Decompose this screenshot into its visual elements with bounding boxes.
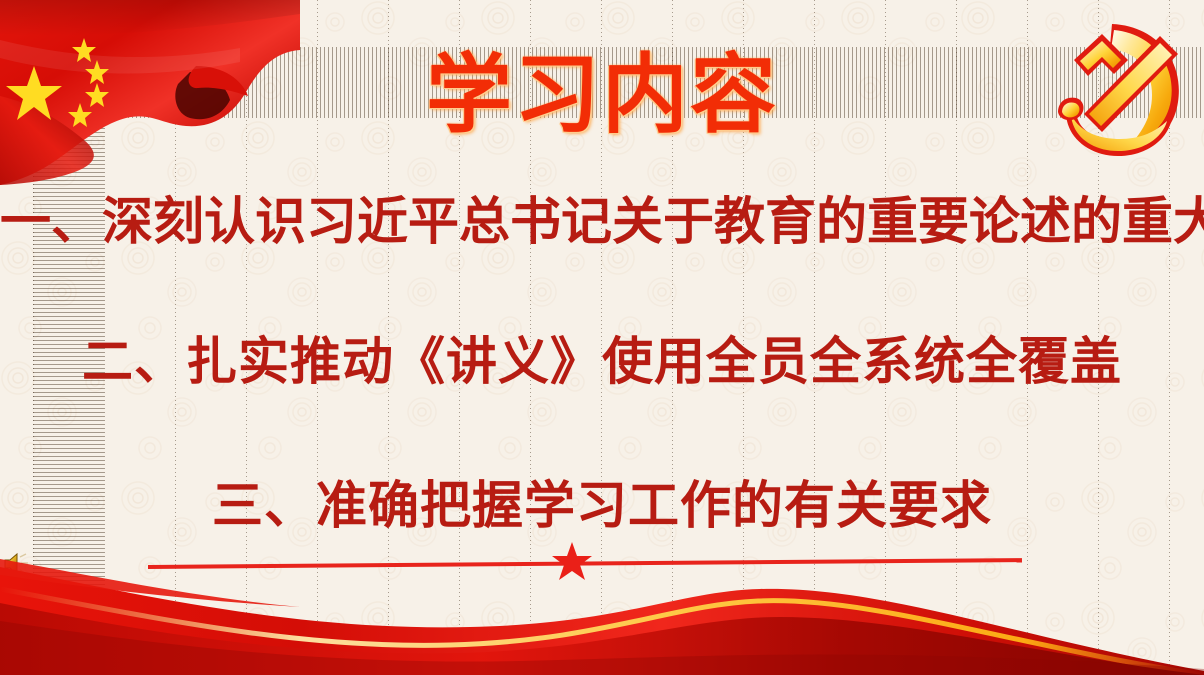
- presentation-slide: 学习内容 一、深刻认识习近平总书记关于教育的重要论述的重大意义 二、扎实推动《讲…: [0, 0, 1204, 675]
- content-item-1: 一、深刻认识习近平总书记关于教育的重要论述的重大意义: [0, 198, 1204, 249]
- content-item-2: 二、扎实推动《讲义》使用全员全系统全覆盖: [0, 338, 1204, 389]
- ribbon-decoration: [0, 545, 1204, 675]
- content-item-3: 三、准确把握学习工作的有关要求: [0, 482, 1204, 533]
- page-title: 学习内容: [0, 52, 1204, 138]
